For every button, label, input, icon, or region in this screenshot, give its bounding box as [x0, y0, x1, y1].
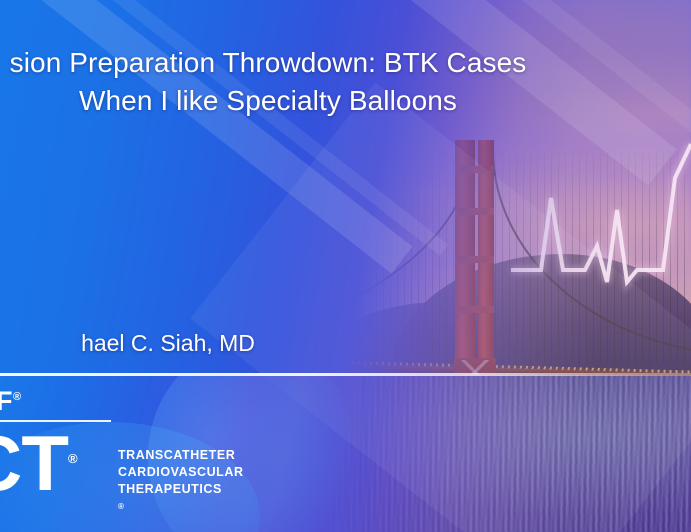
- slide-title-line-2: When I like Specialty Balloons: [0, 82, 598, 120]
- presentation-title-slide: sion Preparation Throwdown: BTK Cases Wh…: [0, 0, 691, 532]
- crf-logo: RF®: [0, 388, 22, 415]
- tct-logo: CT®: [0, 424, 78, 502]
- tct-subtitle-line-3-text: THERAPEUTICS: [118, 481, 244, 498]
- tct-logo-mark: CT: [0, 419, 68, 507]
- presenter-name: hael C. Siah, MD: [0, 328, 398, 358]
- crf-registered-mark: ®: [13, 391, 22, 403]
- slide-title-line-1: sion Preparation Throwdown: BTK Cases: [0, 44, 598, 82]
- tct-subtitle-line-2: CARDIOVASCULAR: [118, 464, 244, 481]
- slide-title: sion Preparation Throwdown: BTK Cases Wh…: [0, 44, 598, 120]
- tct-subtitle-line-1: TRANSCATHETER: [118, 447, 244, 464]
- tct-logo-subtitle: TRANSCATHETER CARDIOVASCULAR THERAPEUTIC…: [118, 447, 244, 519]
- crf-logo-mark: RF: [0, 386, 13, 416]
- tct-registered-mark: ®: [68, 451, 78, 466]
- tct-subtitle-line-3: THERAPEUTICS®: [118, 481, 244, 519]
- tct-subtitle-registered-mark: ®: [118, 502, 124, 511]
